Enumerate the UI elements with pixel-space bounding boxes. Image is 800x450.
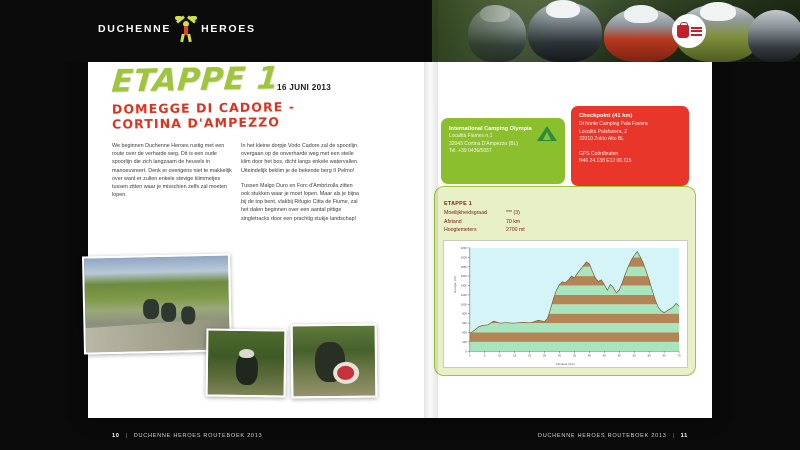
- svg-text:25: 25: [543, 354, 547, 358]
- svg-text:2000: 2000: [461, 255, 468, 259]
- svg-text:1600: 1600: [461, 274, 468, 278]
- elevation-profile-chart: 0200400600800100012001400160018002000220…: [443, 240, 688, 368]
- sponsor-logo-icon: [672, 14, 706, 48]
- chart-x-axis-label: Afstand (km): [556, 362, 575, 366]
- svg-text:30: 30: [558, 354, 562, 358]
- svg-text:20: 20: [528, 354, 532, 358]
- camping-info-box: International Camping Olympia Località F…: [441, 118, 565, 184]
- page-title: ETAPPE 1: [110, 60, 280, 99]
- svg-text:800: 800: [462, 312, 467, 316]
- svg-text:35: 35: [573, 354, 577, 358]
- svg-text:2200: 2200: [461, 246, 468, 250]
- footer-right: DUCHENNE HEROES ROUTEBOEK 2013 | 11: [538, 433, 688, 439]
- stats-row: Hoogtemeters 2700 mt: [444, 226, 594, 234]
- body-paragraph: Tussen Malgo Duro en Forc d'Ambrizolla z…: [241, 182, 361, 223]
- svg-text:5: 5: [484, 354, 486, 358]
- svg-text:1800: 1800: [461, 265, 468, 269]
- footer-text-left: DUCHENNE HEROES ROUTEBOEK 2013: [134, 433, 263, 439]
- svg-text:55: 55: [633, 354, 637, 358]
- gps-value: N46 24.138 E12 06.115: [579, 158, 681, 166]
- stats-row: Afstand 70 km: [444, 218, 594, 226]
- photo-gradient-overlay: [432, 0, 552, 62]
- rider-forest-photo: [206, 328, 287, 397]
- route-subtitle: DOMEGGE DI CADORE - CORTINA D'AMPEZZO: [112, 98, 352, 131]
- camping-phone: Tel. +39 0436/5057: [449, 148, 557, 156]
- stats-value: 2700 mt: [506, 226, 525, 234]
- camping-address-2: 32043 Cortina D'Ampezzo (BL): [449, 141, 557, 149]
- svg-text:1200: 1200: [461, 293, 468, 297]
- footer-separator: |: [673, 433, 675, 439]
- magazine-spread-screenshot: DUCHENNE HEROES ETAPPE 1 16 JUNI 2013 DO…: [0, 0, 800, 450]
- body-column-2: In het kleine dorpje Vodo Cadore zal de …: [241, 142, 361, 230]
- svg-text:1400: 1400: [461, 284, 468, 288]
- svg-text:45: 45: [603, 354, 607, 358]
- svg-text:0: 0: [469, 354, 471, 358]
- checkpoint-line-1: Di fronte Camping Pala Favera: [579, 121, 681, 129]
- stats-value: 70 km: [506, 218, 520, 226]
- svg-text:40: 40: [588, 354, 592, 358]
- checkpoint-title: Checkpoint (41 km): [579, 113, 681, 119]
- svg-text:200: 200: [462, 340, 467, 344]
- svg-text:400: 400: [462, 331, 467, 335]
- riders-climb-photo: [291, 324, 378, 399]
- page-number-left: 10: [112, 433, 120, 439]
- checkpoint-line-2: Località Palafavera, 2: [579, 129, 681, 137]
- svg-text:15: 15: [513, 354, 517, 358]
- stats-value: *** (3): [506, 209, 520, 217]
- body-column-1: We beginnen Duchenne Heroes rustig met e…: [112, 142, 232, 206]
- stage-stats: ETAPPE 1 Moeilijkheidsgraad *** (3) Afst…: [444, 200, 594, 235]
- footer-separator: |: [126, 433, 128, 439]
- checkpoint-info-box: Checkpoint (41 km) Di fronte Camping Pal…: [571, 106, 689, 186]
- svg-text:1000: 1000: [461, 302, 468, 306]
- body-paragraph: We beginnen Duchenne Heroes rustig met e…: [112, 142, 232, 199]
- header-cyclists-photo: [432, 0, 800, 62]
- checkpoint-line-3: 32010 Zoldo Alto BL: [579, 136, 681, 144]
- stats-key: Hoogtemeters: [444, 226, 506, 234]
- chart-y-axis-label: Hoogte (m): [453, 276, 457, 293]
- tent-icon-inner: [543, 132, 551, 140]
- stats-key: Afstand: [444, 218, 506, 226]
- svg-text:70: 70: [678, 354, 682, 358]
- footer-text-right: DUCHENNE HEROES ROUTEBOEK 2013: [538, 433, 667, 439]
- camping-title: International Camping Olympia: [449, 125, 535, 133]
- footer-left: 10 | DUCHENNE HEROES ROUTEBOEK 2013: [112, 433, 262, 439]
- elevation-chart-svg: 0200400600800100012001400160018002000220…: [444, 241, 687, 367]
- stats-row: Moeilijkheidsgraad *** (3): [444, 209, 594, 217]
- gps-label: GPS Coördinaten: [579, 151, 681, 159]
- stats-key: Moeilijkheidsgraad: [444, 209, 506, 217]
- page-number-right: 11: [681, 433, 688, 439]
- svg-text:60: 60: [648, 354, 652, 358]
- svg-text:50: 50: [618, 354, 622, 358]
- svg-text:10: 10: [498, 354, 502, 358]
- cyclist-5: [748, 10, 800, 62]
- stats-heading: ETAPPE 1: [444, 200, 594, 208]
- svg-text:0: 0: [465, 349, 467, 353]
- brand-name-left: DUCHENNE: [98, 23, 171, 35]
- page-gutter: [424, 0, 438, 418]
- body-paragraph: In het kleine dorpje Vodo Cadore zal de …: [241, 142, 361, 175]
- svg-text:600: 600: [462, 321, 467, 325]
- hero-figure-icon: [176, 16, 196, 42]
- svg-text:65: 65: [663, 354, 667, 358]
- brand-name-right: HEROES: [201, 23, 256, 35]
- brand-logo: DUCHENNE HEROES: [98, 16, 256, 42]
- cyclist-3: [604, 8, 680, 62]
- stage-date: 16 JUNI 2013: [277, 83, 331, 92]
